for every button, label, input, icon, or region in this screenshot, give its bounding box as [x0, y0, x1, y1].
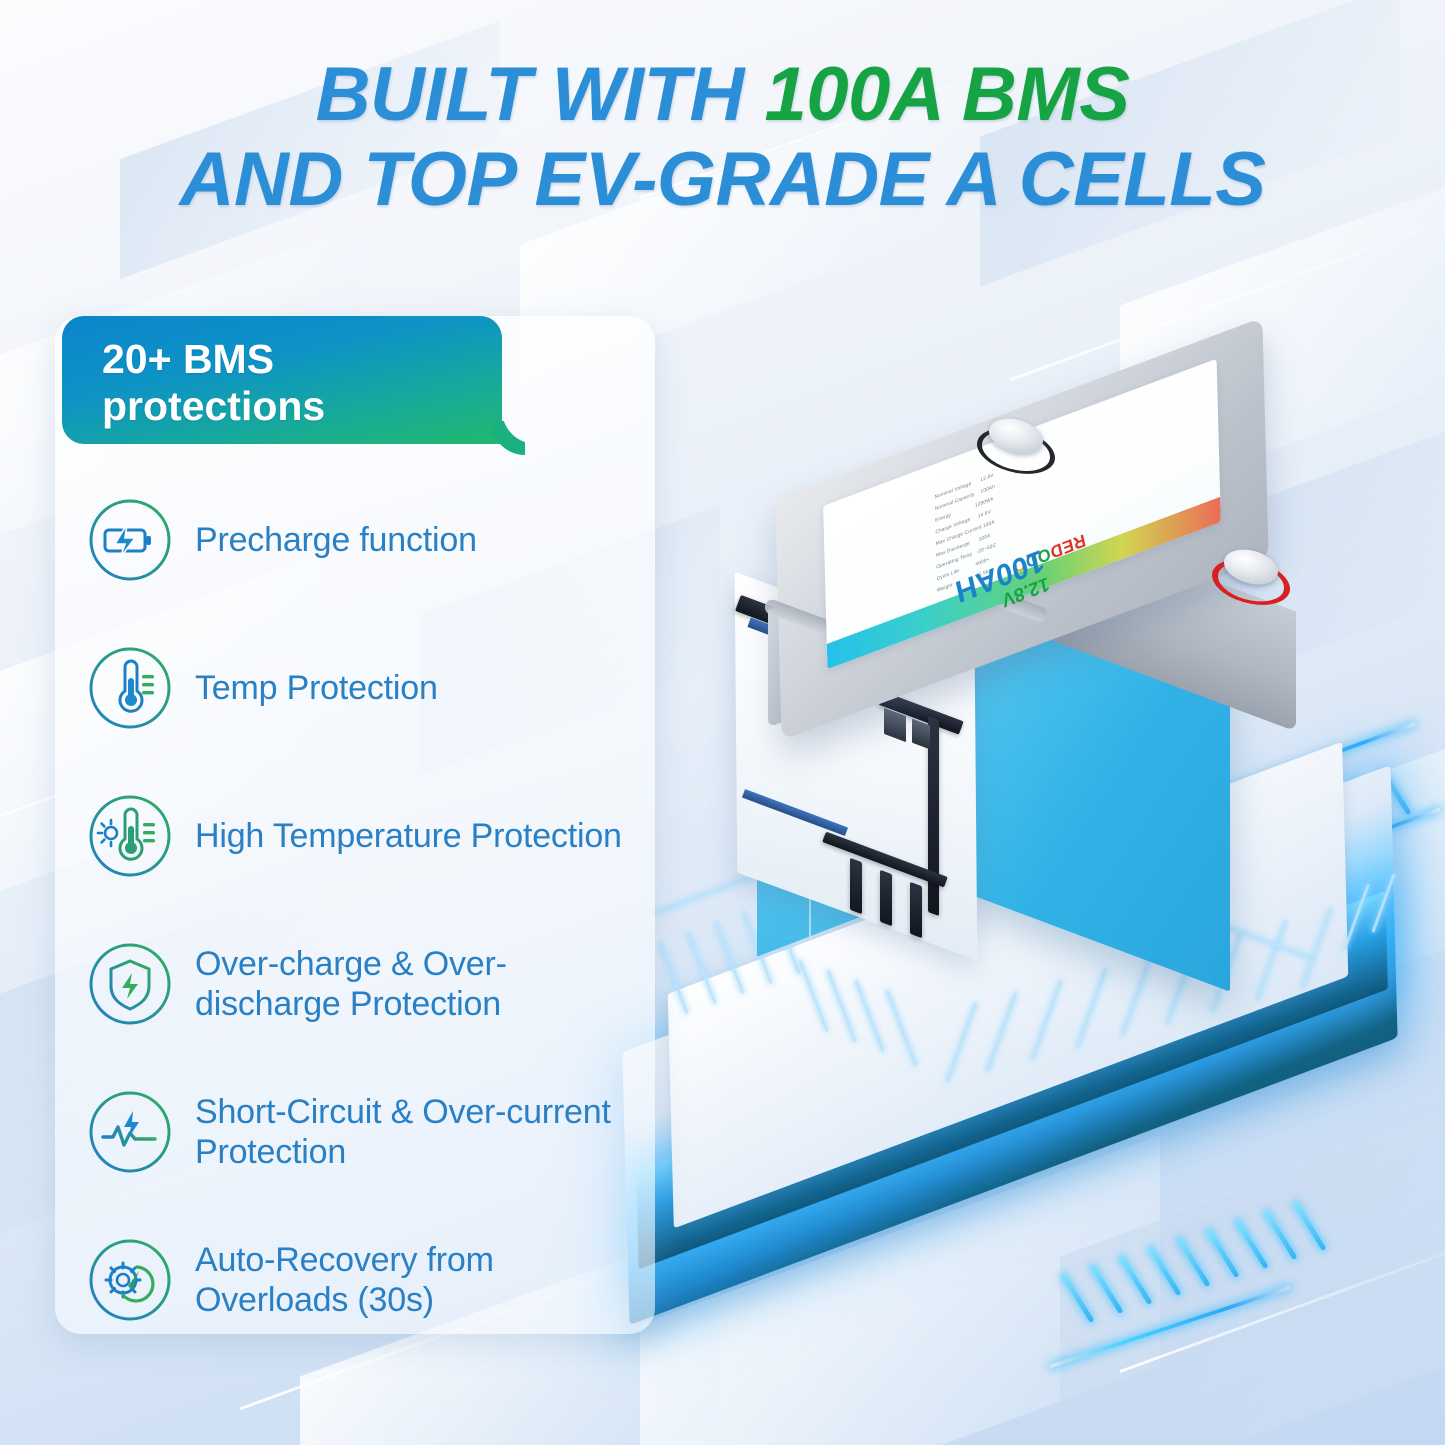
gear-gauge-icon: [87, 1237, 173, 1323]
bms-fin-3: [910, 882, 922, 938]
battery-charging-icon: [87, 497, 173, 583]
list-item[interactable]: High Temperature Protection: [55, 762, 655, 910]
card-header-line-2: protections: [102, 383, 325, 430]
high-temperature-sun-thermometer-icon: [87, 793, 173, 879]
list-item[interactable]: Precharge function: [55, 466, 655, 614]
list-item[interactable]: Short-Circuit & Over-current Protection: [55, 1058, 655, 1206]
title-line-1: BUILT WITH 100A BMS: [0, 52, 1445, 137]
list-item-label: Precharge function: [195, 520, 477, 560]
bms-fin-1: [850, 858, 862, 914]
list-item-label: Auto-Recovery from Overloads (30s): [195, 1240, 629, 1320]
title-line-2: AND TOP EV-GRADE A CELLS: [0, 137, 1445, 222]
title-line-1-blue: BUILT WITH: [316, 52, 765, 137]
bms-fin-2: [880, 870, 892, 926]
list-item[interactable]: Over-charge & Over-discharge Protection: [55, 910, 655, 1058]
list-item-label: Temp Protection: [195, 668, 438, 708]
title-line-1-green: 100A BMS: [765, 52, 1130, 137]
card-header-banner: 20+ BMS protections: [62, 316, 502, 444]
card-header-line-1: 20+ BMS: [102, 336, 274, 382]
pulse-bolt-icon: [87, 1089, 173, 1175]
list-item[interactable]: Auto-Recovery from Overloads (30s): [55, 1206, 655, 1354]
card-header-text: 20+ BMS protections: [102, 336, 325, 429]
list-item-label: Short-Circuit & Over-current Protection: [195, 1092, 629, 1172]
shield-bolt-icon: [87, 941, 173, 1027]
thermometer-icon: [87, 645, 173, 731]
bms-protections-card: 20+ BMS protections: [55, 316, 655, 1334]
infographic-canvas: BUILT WITH 100A BMS AND TOP EV-GRADE A C…: [0, 0, 1445, 1445]
list-item[interactable]: Temp Protection: [55, 614, 655, 762]
page-title: BUILT WITH 100A BMS AND TOP EV-GRADE A C…: [0, 52, 1445, 222]
feature-list: Precharge function: [55, 466, 655, 1354]
list-item-label: Over-charge & Over-discharge Protection: [195, 944, 629, 1024]
list-item-label: High Temperature Protection: [195, 816, 622, 856]
